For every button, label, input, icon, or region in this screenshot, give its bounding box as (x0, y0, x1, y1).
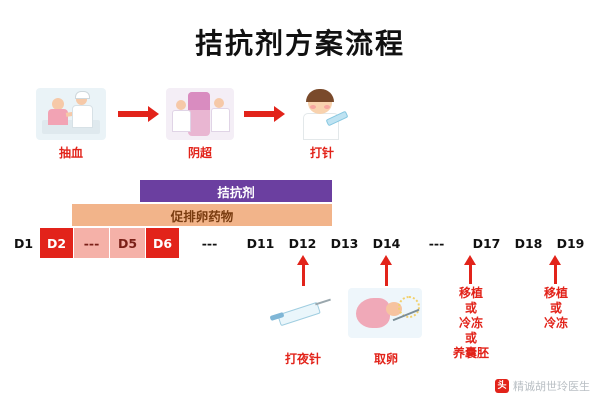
toutiao-logo-icon: 头条 (495, 379, 509, 393)
top-step-injection: 打针 (292, 88, 352, 161)
top-step-label-blood-draw: 抽血 (36, 144, 106, 161)
timeline-cell-d6[interactable]: D6 (146, 228, 180, 258)
ovum-pickup-illustration (348, 288, 422, 338)
caption-d17-or-1: 或 (440, 301, 502, 316)
caption-d17-transfer: 移植 (440, 286, 502, 301)
timeline-cell-d17[interactable]: D17 (466, 228, 508, 258)
caption-d19-or: 或 (525, 301, 587, 316)
syringe-illustration (272, 292, 332, 338)
top-step-blood-draw: 抽血 (36, 88, 106, 161)
top-step-ultrasound: 阴超 (166, 88, 234, 161)
caption-group-d19: 移植 或 冷冻 (525, 286, 587, 331)
blood-draw-illustration (36, 88, 106, 140)
timeline-cell-gap1[interactable]: --- (74, 228, 110, 258)
timeline-cell-d11[interactable]: D11 (240, 228, 282, 258)
bar-antagonist: 拮抗剂 (140, 180, 332, 202)
caption-egg-retrieval: 取卵 (356, 352, 416, 367)
timeline-cell-d19[interactable]: D19 (550, 228, 592, 258)
top-step-label-ultrasound: 阴超 (166, 144, 234, 161)
timeline-cell-d5[interactable]: D5 (110, 228, 146, 258)
watermark: 头条 精诚胡世玲医生 (495, 378, 590, 394)
timeline-cell-d18[interactable]: D18 (508, 228, 550, 258)
caption-d17-or-2: 或 (440, 331, 502, 346)
timeline-cell-gap3[interactable]: --- (408, 228, 466, 258)
caption-night-shot: 打夜针 (273, 352, 333, 367)
page-title: 拮抗剂方案流程 (0, 22, 600, 62)
timeline-cell-d13[interactable]: D13 (324, 228, 366, 258)
caption-d19-transfer: 移植 (525, 286, 587, 301)
injection-illustration (292, 88, 352, 140)
caption-d17-freeze: 冷冻 (440, 316, 502, 331)
timeline-cell-d1[interactable]: D1 (8, 228, 40, 258)
top-step-label-injection: 打针 (292, 144, 352, 161)
watermark-text: 精诚胡世玲医生 (513, 378, 590, 394)
bar-stimulation-label: 促排卵药物 (171, 206, 234, 225)
caption-group-d17: 移植 或 冷冻 或 养囊胚 (440, 286, 502, 361)
timeline-cell-d14[interactable]: D14 (366, 228, 408, 258)
ultrasound-illustration (166, 88, 234, 140)
caption-d19-freeze: 冷冻 (525, 316, 587, 331)
bar-antagonist-label: 拮抗剂 (217, 182, 255, 201)
timeline-cell-gap2[interactable]: --- (180, 228, 240, 258)
diagram-canvas: 拮抗剂方案流程 抽血 阴超 打针 拮抗剂 促排卵药物 (0, 0, 600, 400)
timeline-cell-d12[interactable]: D12 (282, 228, 324, 258)
timeline: D1 D2 --- D5 D6 --- D11 D12 D13 D14 --- … (8, 228, 592, 258)
timeline-cell-d2[interactable]: D2 (40, 228, 74, 258)
caption-d17-blastocyst: 养囊胚 (440, 346, 502, 361)
bar-stimulation: 促排卵药物 (72, 204, 332, 226)
